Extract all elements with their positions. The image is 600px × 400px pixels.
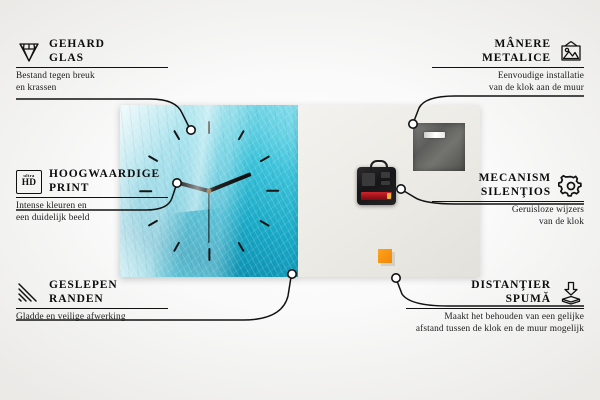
mechanism-detail [362,173,375,186]
callout-rule [406,308,584,309]
foam-spacer-arrow-icon [558,281,584,305]
callout-title: HOOGWAARDIGE PRINT [49,168,160,195]
diamond-gem-icon [16,40,42,64]
callout-gehard-glas: GEHARD GLAS Bestand tegen breuk en krass… [16,38,186,94]
callout-desc-line: Gladde en veilige afwerking [16,312,196,324]
ultra-hd-icon: ultra HD [16,170,42,194]
clock-tick [148,155,158,162]
clock-tick [238,130,245,140]
clock-mechanism [357,167,396,205]
clock-hub [207,189,212,194]
callout-title: GESLEPEN RANDEN [49,279,118,306]
clock-tick [260,155,270,162]
hanger-slot [424,132,445,138]
callout-desc-line: Eenvoudige installatie [404,71,584,83]
callout-distantier-spuma: DISTANŢIER SPUMĂ Maakt het behouden van … [392,279,584,335]
gear-icon [558,174,584,198]
callout-header: ultra HD HOOGWAARDIGE PRINT [16,168,191,195]
callout-desc-line: Maakt het behouden van een gelijke [392,312,584,324]
callout-desc-line: van de klok aan de muur [404,83,584,95]
beveled-edges-icon [16,281,42,305]
callout-header: MECANISM SILENŢIOS [404,172,584,199]
callout-desc-line: van de klok [404,217,584,229]
callout-desc-line: Geruisloze wijzers [404,205,584,217]
clock-minute-hand [208,172,251,193]
callout-title: MÂNERE METALICE [482,38,551,65]
callout-hoogwaardige-print: ultra HD HOOGWAARDIGE PRINT Intense kleu… [16,168,191,224]
callout-header: GEHARD GLAS [16,38,186,65]
callout-mecanism-silentios: MECANISM SILENŢIOS Geruisloze wijzers va… [404,172,584,228]
callout-rule [16,308,168,309]
foam-spacer [378,249,392,263]
callout-title: MECANISM SILENŢIOS [479,172,551,199]
callout-desc-line: Bestand tegen breuk [16,71,186,83]
clock-second-hand [208,191,209,243]
callout-header: GESLEPEN RANDEN [16,279,196,306]
callout-rule [16,67,168,68]
callout-manere-metalice: MÂNERE METALICE Eenvoudige installatie v… [404,38,584,94]
mechanism-detail [381,172,390,178]
battery [361,192,392,200]
clock-tick [266,190,279,192]
callout-title: DISTANŢIER SPUMĂ [471,279,551,306]
clock-tick [208,248,210,261]
callout-rule [16,197,168,198]
callout-desc-line: Intense kleuren en [16,201,191,213]
framed-picture-hanging-icon [558,40,584,64]
callout-desc-line: en krassen [16,83,186,95]
mechanism-hook [370,160,388,172]
callout-rule [432,201,584,202]
callout-rule [432,67,584,68]
callout-desc-line: afstand tussen de klok en de muur mogeli… [392,324,584,336]
battery-terminal [387,193,391,199]
callout-geslepen-randen: GESLEPEN RANDEN Gladde en veilige afwerk… [16,279,196,324]
callout-desc-line: een duidelijk beeld [16,213,191,225]
metal-hanger-plate [413,123,465,171]
clock-tick [238,242,245,252]
infographic-canvas: GEHARD GLAS Bestand tegen breuk en krass… [0,0,600,400]
callout-title: GEHARD GLAS [49,38,105,65]
callout-header: MÂNERE METALICE [404,38,584,65]
clock-tick [208,121,210,134]
mechanism-detail [381,181,390,185]
clock-tick [173,130,180,140]
clock-tick [260,220,270,227]
callout-header: DISTANŢIER SPUMĂ [392,279,584,306]
ultra-hd-large-label: HD [22,179,36,188]
clock-tick [173,242,180,252]
